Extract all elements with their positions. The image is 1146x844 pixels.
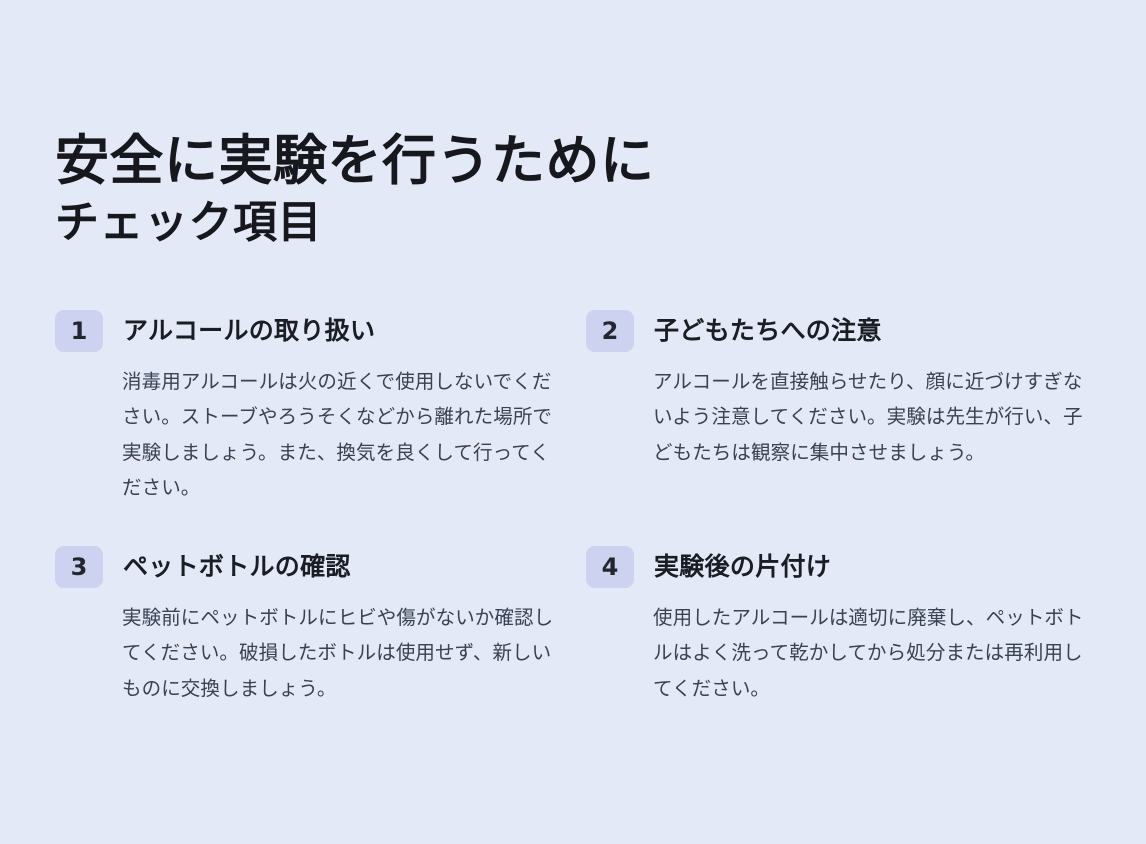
checklist-item-3: 3 ペットボトルの確認 実験前にペットボトルにヒビや傷がないか確認してください。… xyxy=(55,545,555,755)
checklist-item-1-body: 消毒用アルコールは火の近くで使用しないでください。ストーブやろうそくなどから離れ… xyxy=(122,364,554,506)
checklist-item-4-head: 4 実験後の片付け xyxy=(586,545,1086,589)
checklist-item-3-head: 3 ペットボトルの確認 xyxy=(55,545,555,589)
checklist-grid: 1 アルコールの取り扱い 消毒用アルコールは火の近くで使用しないでください。スト… xyxy=(55,309,1091,755)
checklist-item-1-number-badge: 1 xyxy=(55,310,103,352)
checklist-item-2: 2 子どもたちへの注意 アルコールを直接触らせたり、顔に近づけすぎないよう注意し… xyxy=(586,309,1086,519)
checklist-item-1-head: 1 アルコールの取り扱い xyxy=(55,309,555,353)
checklist-item-2-heading: 子どもたちへの注意 xyxy=(654,316,882,346)
checklist-item-3-heading: ペットボトルの確認 xyxy=(123,552,351,582)
slide-root: 安全に実験を行うために チェック項目 1 アルコールの取り扱い 消毒用アルコール… xyxy=(0,0,1146,844)
page-title-line-2: チェック項目 xyxy=(55,194,955,251)
checklist-item-3-body: 実験前にペットボトルにヒビや傷がないか確認してください。破損したボトルは使用せず… xyxy=(122,600,554,706)
checklist-item-4-heading: 実験後の片付け xyxy=(654,552,831,582)
page-title: 安全に実験を行うために チェック項目 xyxy=(55,128,955,251)
checklist-item-3-number-badge: 3 xyxy=(55,546,103,588)
checklist-item-1-heading: アルコールの取り扱い xyxy=(123,316,375,346)
checklist-item-2-number-badge: 2 xyxy=(586,310,634,352)
checklist-item-2-head: 2 子どもたちへの注意 xyxy=(586,309,1086,353)
checklist-item-4: 4 実験後の片付け 使用したアルコールは適切に廃棄し、ペットボトルはよく洗って乾… xyxy=(586,545,1086,755)
checklist-item-4-number-badge: 4 xyxy=(586,546,634,588)
checklist-item-2-body: アルコールを直接触らせたり、顔に近づけすぎないよう注意してください。実験は先生が… xyxy=(653,364,1085,470)
checklist-item-1: 1 アルコールの取り扱い 消毒用アルコールは火の近くで使用しないでください。スト… xyxy=(55,309,555,519)
page-title-line-1: 安全に実験を行うために xyxy=(55,128,955,194)
checklist-item-4-body: 使用したアルコールは適切に廃棄し、ペットボトルはよく洗って乾かしてから処分または… xyxy=(653,600,1085,706)
